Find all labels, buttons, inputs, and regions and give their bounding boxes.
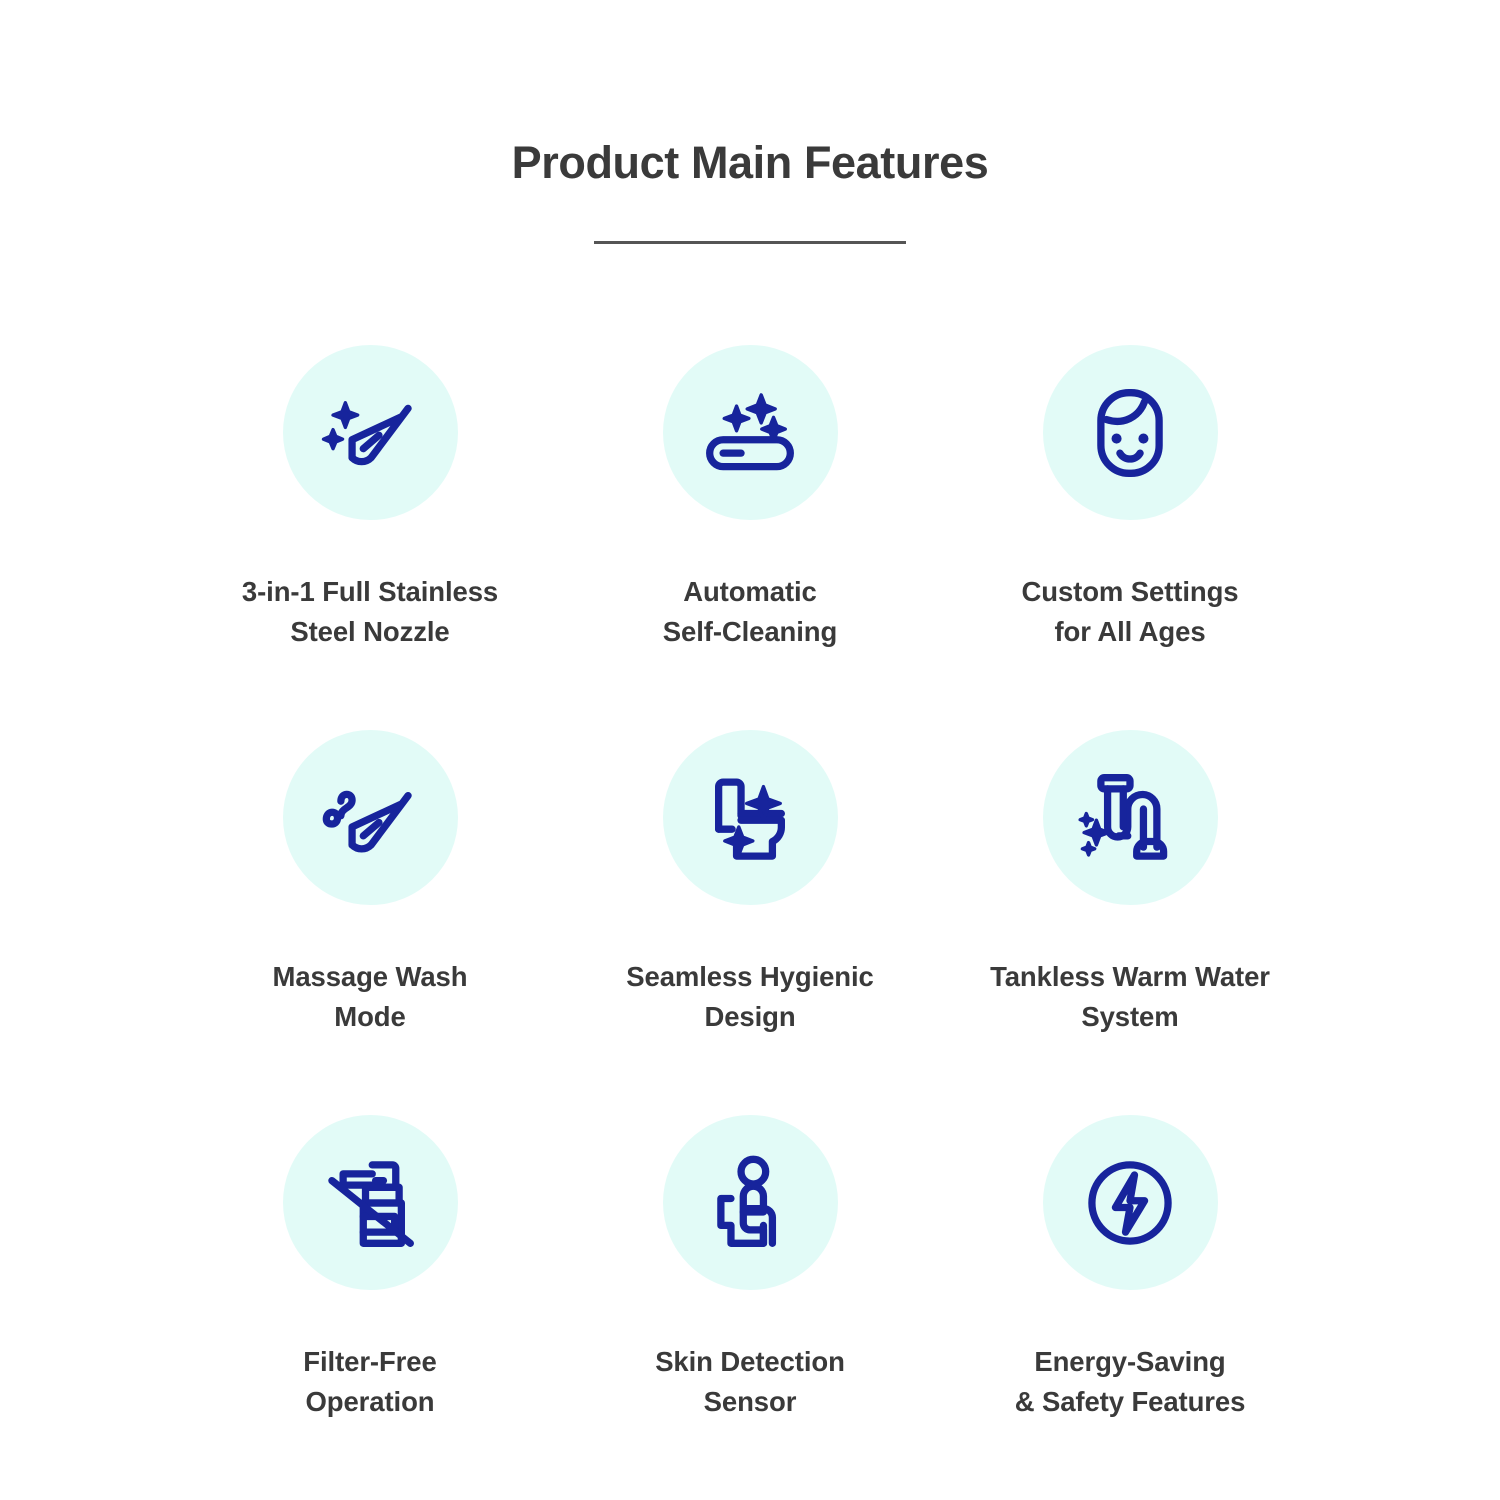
feature-card-filter-free[interactable]: Filter-Free Operation (180, 1115, 560, 1500)
feature-label: Automatic Self-Cleaning (663, 572, 837, 652)
icon-circle (1043, 730, 1218, 905)
feature-label: Energy-Saving & Safety Features (1015, 1342, 1246, 1422)
icon-circle (1043, 1115, 1218, 1290)
sparkling-toilet-icon (694, 762, 806, 874)
massage-wave-nozzle-icon (314, 762, 426, 874)
feature-grid: 3-in-1 Full Stainless Steel Nozzle Autom… (180, 345, 1320, 1500)
page-title: Product Main Features (0, 138, 1500, 188)
sparkle-nozzle-icon (314, 377, 426, 489)
page-header: Product Main Features (0, 138, 1500, 244)
feature-card-massage-wash[interactable]: Massage Wash Mode (180, 730, 560, 1115)
product-features-page: Product Main Features 3-in-1 Full Stainl… (0, 0, 1500, 1500)
self-cleaning-sparkle-bar-icon (694, 377, 806, 489)
icon-circle (663, 345, 838, 520)
feature-card-skin-detection[interactable]: Skin Detection Sensor (560, 1115, 940, 1500)
icon-circle (663, 1115, 838, 1290)
feature-card-stainless-nozzle[interactable]: 3-in-1 Full Stainless Steel Nozzle (180, 345, 560, 730)
feature-label: 3-in-1 Full Stainless Steel Nozzle (242, 572, 498, 652)
icon-circle (663, 730, 838, 905)
feature-label: Skin Detection Sensor (655, 1342, 845, 1422)
feature-card-hygienic-design[interactable]: Seamless Hygienic Design (560, 730, 940, 1115)
no-filter-bottle-icon (314, 1147, 426, 1259)
feature-label: Massage Wash Mode (273, 957, 468, 1037)
feature-card-tankless-water[interactable]: Tankless Warm Water System (940, 730, 1320, 1115)
water-pipe-sparkle-icon (1074, 762, 1186, 874)
person-seated-sensor-icon (694, 1147, 806, 1259)
feature-label: Tankless Warm Water System (990, 957, 1270, 1037)
icon-circle (1043, 345, 1218, 520)
icon-circle (283, 1115, 458, 1290)
smiling-face-icon (1074, 377, 1186, 489)
feature-label: Custom Settings for All Ages (1022, 572, 1239, 652)
lightning-bolt-circle-icon (1074, 1147, 1186, 1259)
icon-circle (283, 730, 458, 905)
feature-card-custom-settings[interactable]: Custom Settings for All Ages (940, 345, 1320, 730)
feature-card-self-cleaning[interactable]: Automatic Self-Cleaning (560, 345, 940, 730)
feature-label: Filter-Free Operation (303, 1342, 436, 1422)
title-divider (594, 241, 906, 244)
feature-label: Seamless Hygienic Design (626, 957, 873, 1037)
icon-circle (283, 345, 458, 520)
feature-card-energy-saving[interactable]: Energy-Saving & Safety Features (940, 1115, 1320, 1500)
